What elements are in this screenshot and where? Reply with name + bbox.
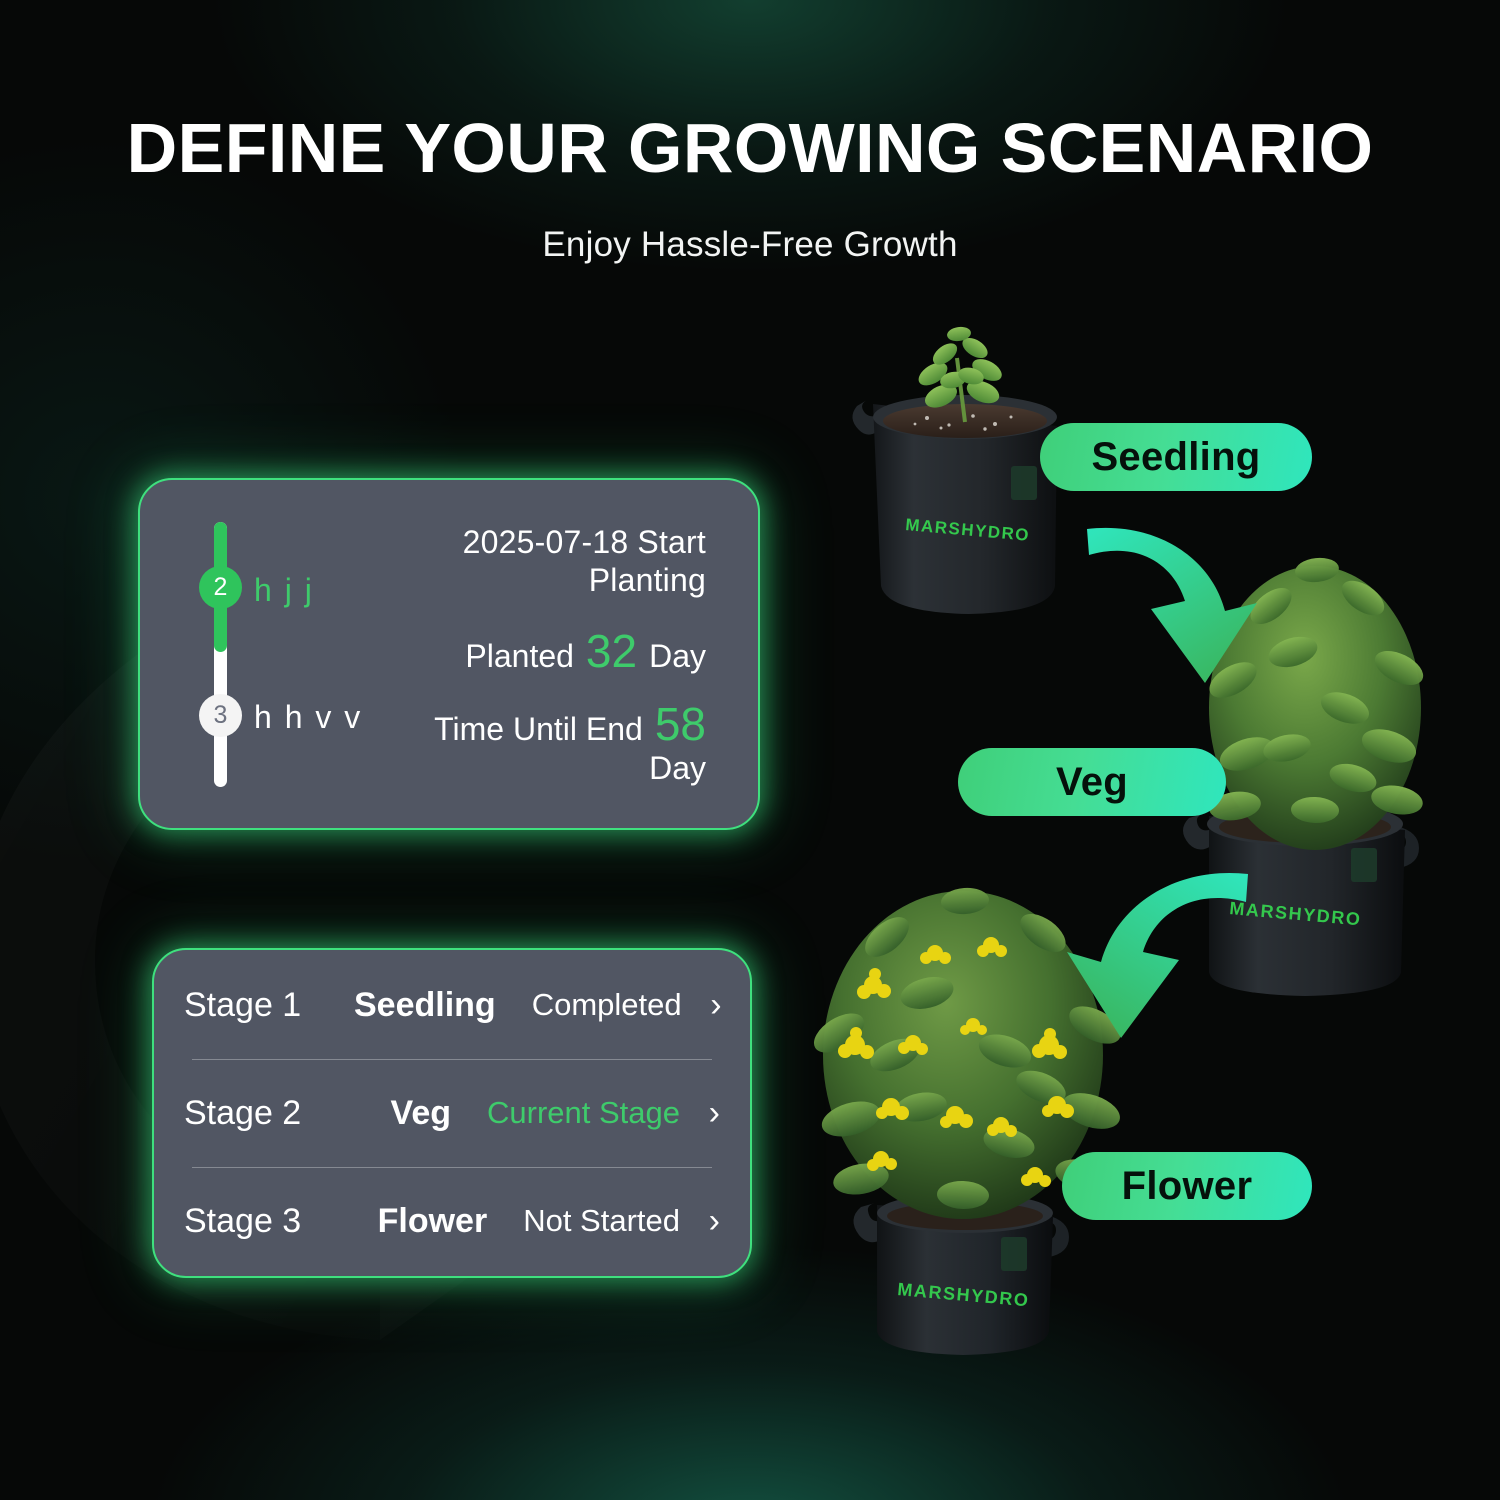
- plant-image-flower: MARSHYDRO: [795, 875, 1145, 1365]
- stage-badge-seedling: Seedling: [1040, 423, 1312, 491]
- stage-3-index: Stage 3: [184, 1202, 354, 1241]
- page-subtitle: Enjoy Hassle-Free Growth: [0, 225, 1500, 265]
- chevron-right-icon[interactable]: ›: [680, 1202, 720, 1241]
- timeline-node-3-label: h h v v: [254, 699, 362, 736]
- time-until-end-row: Time Until End 58 Day: [392, 701, 706, 787]
- stage-3-name: Flower: [354, 1202, 523, 1241]
- timeline-node-2-number: 2: [214, 573, 228, 602]
- timeline-node-2-label: h j j: [254, 572, 314, 609]
- stage-2-name: Veg: [354, 1094, 487, 1133]
- stage-1-status: Completed: [532, 987, 682, 1023]
- chevron-right-icon[interactable]: ›: [680, 1094, 720, 1133]
- background-glow-top: [0, 0, 1500, 380]
- time-until-end-value: 58: [655, 701, 706, 747]
- stage-3-status: Not Started: [523, 1203, 680, 1239]
- stage-badge-flower: Flower: [1062, 1152, 1312, 1220]
- planting-stats: 2025-07-18 Start Planting Planted 32 Day…: [392, 480, 758, 828]
- planted-value: 32: [586, 628, 637, 674]
- stage-badge-flower-label: Flower: [1122, 1164, 1253, 1209]
- stages-card: Stage 1 Seedling Completed › Stage 2 Veg…: [152, 948, 752, 1278]
- stage-1-index: Stage 1: [184, 986, 354, 1025]
- start-planting-text: 2025-07-18 Start Planting: [392, 524, 706, 600]
- time-until-end-unit: Day: [392, 750, 706, 787]
- time-until-end-label: Time Until End: [434, 711, 643, 748]
- stage-row-1[interactable]: Stage 1 Seedling Completed ›: [184, 951, 720, 1059]
- growth-timeline: 2 h j j 3 h h v v: [192, 480, 392, 828]
- timeline-node-2[interactable]: 2: [199, 566, 242, 609]
- stage-1-name: Seedling: [354, 986, 532, 1025]
- promo-graphic: DEFINE YOUR GROWING SCENARIO Enjoy Hassl…: [0, 0, 1500, 1500]
- stage-2-index: Stage 2: [184, 1094, 354, 1133]
- timeline-node-3-number: 3: [214, 701, 228, 730]
- planted-days-row: Planted 32 Day: [392, 628, 706, 675]
- planted-label: Planted: [465, 638, 574, 675]
- planted-unit: Day: [649, 638, 706, 675]
- stage-2-status: Current Stage: [487, 1095, 680, 1131]
- page-title: DEFINE YOUR GROWING SCENARIO: [0, 112, 1500, 186]
- timeline-card: 2 h j j 3 h h v v 2025-07-18 Start Plant…: [138, 478, 760, 830]
- chevron-right-icon[interactable]: ›: [682, 986, 722, 1025]
- stage-badge-seedling-label: Seedling: [1091, 435, 1260, 480]
- stage-badge-veg-label: Veg: [1056, 760, 1128, 805]
- stage-row-2[interactable]: Stage 2 Veg Current Stage ›: [184, 1059, 720, 1167]
- timeline-node-3[interactable]: 3: [199, 694, 242, 737]
- stage-badge-veg: Veg: [958, 748, 1226, 816]
- stage-row-3[interactable]: Stage 3 Flower Not Started ›: [184, 1167, 720, 1275]
